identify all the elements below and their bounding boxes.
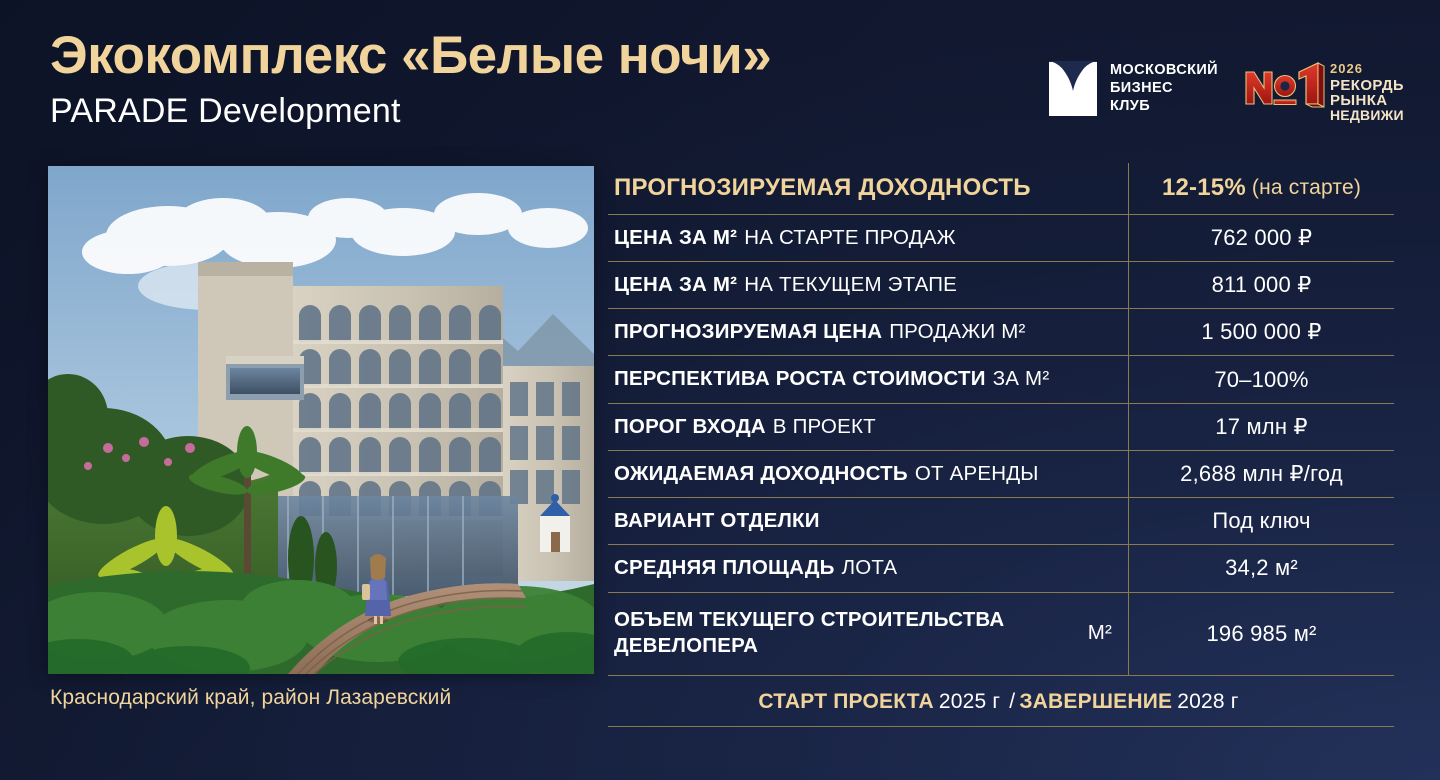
row-label-light: ЗА М² xyxy=(993,366,1050,392)
row-label-bold: ЦЕНА ЗА М² xyxy=(614,225,737,251)
row-label: ОЖИДАЕМАЯ ДОХОДНОСТЬ ОТ АРЕНДЫ xyxy=(608,451,1128,497)
row-value: 196 985 м² xyxy=(1128,593,1394,675)
row-label-light: НА ТЕКУЩЕМ ЭТАПЕ xyxy=(744,272,957,298)
project-start-value: 2025 г xyxy=(939,690,1000,714)
row-label-light: В ПРОЕКТ xyxy=(773,414,876,440)
page-title: Экокомплекс «Белые ночи» xyxy=(50,28,1050,84)
records-badge-icon: 2026 РЕКОРДЫ РЫНКА НЕДВИЖИМОСТИ xyxy=(1244,52,1404,124)
table-row: ЦЕНА ЗА М² НА СТАРТЕ ПРОДАЖ 762 000 ₽ xyxy=(608,215,1394,262)
row-label: СРЕДНЯЯ ПЛОЩАДЬ ЛОТА xyxy=(608,545,1128,591)
row-value-text: 196 985 м² xyxy=(1206,621,1316,647)
row-label: ВАРИАНТ ОТДЕЛКИ xyxy=(608,498,1128,544)
table-row: ПЕРСПЕКТИВА РОСТА СТОИМОСТИ ЗА М² 70–100… xyxy=(608,356,1394,403)
table-row: ОЖИДАЕМАЯ ДОХОДНОСТЬ ОТ АРЕНДЫ 2,688 млн… xyxy=(608,451,1394,498)
row-label-light: ЛОТА xyxy=(842,555,898,581)
table-row: СРЕДНЯЯ ПЛОЩАДЬ ЛОТА 34,2 м² xyxy=(608,545,1394,592)
mbk-wordmark: Московский Бизнес Клуб xyxy=(1110,61,1218,116)
row-label-bold: ОБЪЕМ ТЕКУЩЕГО СТРОИТЕЛЬСТВА ДЕВЕЛОПЕРА xyxy=(614,607,1081,659)
row-label-bold: ПЕРСПЕКТИВА РОСТА СТОИМОСТИ xyxy=(614,366,986,392)
table-head-row: ПРОГНОЗИРУЕМАЯ ДОХОДНОСТЬ 12-15% (на ста… xyxy=(608,163,1394,215)
table-row: ПРОГНОЗИРУЕМАЯ ЦЕНА ПРОДАЖИ М² 1 500 000… xyxy=(608,309,1394,356)
row-label-bold: ПОРОГ ВХОДА xyxy=(614,414,766,440)
row-value: 1 500 000 ₽ xyxy=(1128,309,1394,355)
table-row: ОБЪЕМ ТЕКУЩЕГО СТРОИТЕЛЬСТВА ДЕВЕЛОПЕРА … xyxy=(608,593,1394,676)
row-label-bold: ЦЕНА ЗА М² xyxy=(614,272,737,298)
row-label-bold: ОЖИДАЕМАЯ ДОХОДНОСТЬ xyxy=(614,461,908,487)
row-value: 34,2 м² xyxy=(1128,545,1394,591)
records-market-logo: 2026 РЕКОРДЫ РЫНКА НЕДВИЖИМОСТИ xyxy=(1244,52,1404,124)
head-value-bold: 12-15% xyxy=(1162,174,1246,202)
row-value: 17 млн ₽ xyxy=(1128,404,1394,450)
table-row: ЦЕНА ЗА М² НА ТЕКУЩЕМ ЭТАПЕ 811 000 ₽ xyxy=(608,262,1394,309)
table-row: ПОРОГ ВХОДА В ПРОЕКТ 17 млн ₽ xyxy=(608,404,1394,451)
head-value-note: (на старте) xyxy=(1252,176,1361,200)
mbk-line-1: Московский xyxy=(1110,61,1218,79)
row-value: 811 000 ₽ xyxy=(1128,262,1394,308)
row-label-bold: СРЕДНЯЯ ПЛОЩАДЬ xyxy=(614,555,835,581)
slide-root: Экокомплекс «Белые ночи» PARADE Developm… xyxy=(0,0,1440,780)
row-label-light: ОТ АРЕНДЫ xyxy=(915,461,1039,487)
row-value: Под ключ xyxy=(1128,498,1394,544)
project-render-photo xyxy=(48,166,594,674)
row-label-bold: ПРОГНОЗИРУЕМАЯ ЦЕНА xyxy=(614,319,882,345)
render-illustration xyxy=(48,166,594,674)
head-value: 12-15% (на старте) xyxy=(1128,163,1394,214)
row-label: ПЕРСПЕКТИВА РОСТА СТОИМОСТИ ЗА М² xyxy=(608,356,1128,402)
row-value: 762 000 ₽ xyxy=(1128,215,1394,261)
project-end-label: ЗАВЕРШЕНИЕ xyxy=(1019,690,1172,714)
book-mark-icon xyxy=(1049,61,1097,116)
project-end-value: 2028 г xyxy=(1177,690,1238,714)
row-label-light: М² xyxy=(1088,620,1112,646)
row-value: 2,688 млн ₽/год xyxy=(1128,451,1394,497)
row-label-light: НА СТАРТЕ ПРОДАЖ xyxy=(744,225,956,251)
page-header: Экокомплекс «Белые ночи» PARADE Developm… xyxy=(50,28,1050,131)
row-label: ПРОГНОЗИРУЕМАЯ ЦЕНА ПРОДАЖИ М² xyxy=(608,309,1128,355)
project-start-label: СТАРТ ПРОЕКТА xyxy=(758,690,933,714)
metrics-table: ПРОГНОЗИРУЕМАЯ ДОХОДНОСТЬ 12-15% (на ста… xyxy=(608,163,1394,727)
row-label-light: ПРОДАЖИ М² xyxy=(889,319,1025,345)
row-label-bold: ВАРИАНТ ОТДЕЛКИ xyxy=(614,508,820,534)
row-label: ЦЕНА ЗА М² НА СТАРТЕ ПРОДАЖ xyxy=(608,215,1128,261)
svg-text:2026: 2026 xyxy=(1330,61,1363,76)
logo-group: Московский Бизнес Клуб xyxy=(1049,52,1404,124)
table-row: ВАРИАНТ ОТДЕЛКИ Под ключ xyxy=(608,498,1394,545)
row-value: 70–100% xyxy=(1128,356,1394,402)
footer-separator: / xyxy=(1009,690,1015,714)
mbk-line-2: Бизнес xyxy=(1110,79,1218,97)
head-label: ПРОГНОЗИРУЕМАЯ ДОХОДНОСТЬ xyxy=(608,163,1128,214)
moscow-business-club-logo: Московский Бизнес Клуб xyxy=(1049,61,1218,116)
photo-caption: Краснодарский край, район Лазаревский xyxy=(50,686,451,710)
row-label: ПОРОГ ВХОДА В ПРОЕКТ xyxy=(608,404,1128,450)
row-label: ЦЕНА ЗА М² НА ТЕКУЩЕМ ЭТАПЕ xyxy=(608,262,1128,308)
developer-name: PARADE Development xyxy=(50,92,1050,131)
mbk-line-3: Клуб xyxy=(1110,97,1218,115)
table-footer: СТАРТ ПРОЕКТА 2025 г / ЗАВЕРШЕНИЕ 2028 г xyxy=(608,676,1394,727)
svg-text:НЕДВИЖИМОСТИ: НЕДВИЖИМОСТИ xyxy=(1330,107,1404,123)
row-label: ОБЪЕМ ТЕКУЩЕГО СТРОИТЕЛЬСТВА ДЕВЕЛОПЕРА … xyxy=(608,593,1128,675)
